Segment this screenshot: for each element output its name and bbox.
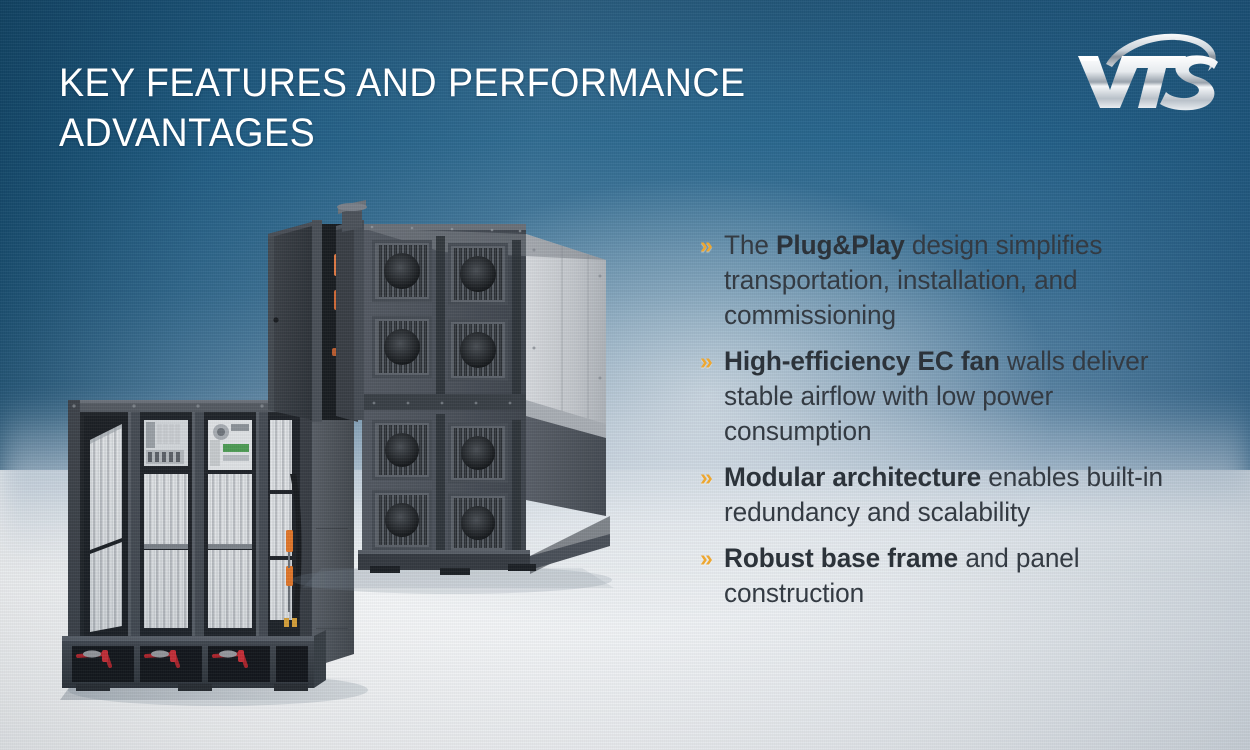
vts-logo <box>1062 26 1232 118</box>
list-item: » Robust base frame and panel constructi… <box>700 541 1212 611</box>
list-item: » Modular architecture enables built-in … <box>700 460 1212 530</box>
bullet-strong: High-efficiency EC fan <box>724 346 1000 376</box>
bullet-marker-icon: » <box>700 344 724 379</box>
bullet-marker-icon: » <box>700 228 724 263</box>
bullet-text: High-efficiency EC fan walls deliver sta… <box>724 344 1197 449</box>
bullet-strong: Robust base frame <box>724 543 958 573</box>
bullet-text: Robust base frame and panel construction <box>724 541 1197 611</box>
bullet-marker-icon: » <box>700 460 724 495</box>
list-item: » High-efficiency EC fan walls deliver s… <box>700 344 1212 449</box>
page-title: KEY FEATURES AND PERFORMANCE ADVANTAGES <box>59 58 792 158</box>
slide-canvas: KEY FEATURES AND PERFORMANCE ADVANTAGES <box>0 0 1250 750</box>
list-item: » The Plug&Play design simplifies transp… <box>700 228 1212 333</box>
feature-bullet-list: » The Plug&Play design simplifies transp… <box>700 228 1212 611</box>
bullet-lead: The <box>724 230 776 260</box>
bullet-text: Modular architecture enables built-in re… <box>724 460 1197 530</box>
bullet-strong: Modular architecture <box>724 462 981 492</box>
bullet-strong: Plug&Play <box>776 230 905 260</box>
bullet-text: The Plug&Play design simplifies transpor… <box>724 228 1197 333</box>
bullet-marker-icon: » <box>700 541 724 576</box>
